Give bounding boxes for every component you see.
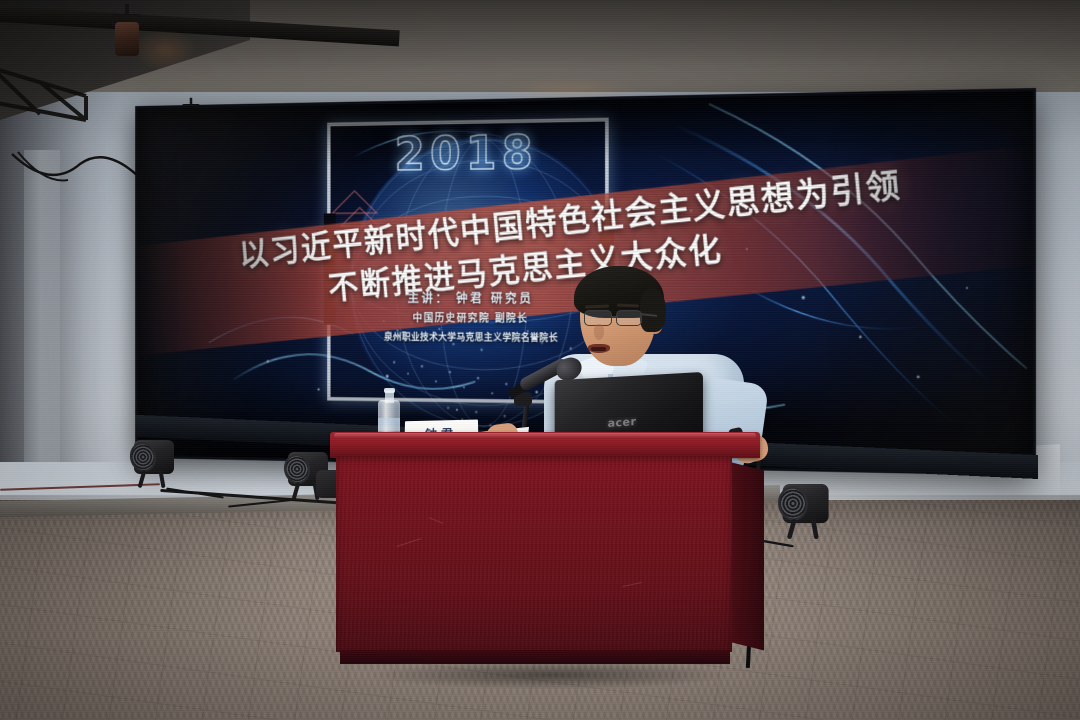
desk-top-highlight bbox=[334, 433, 756, 438]
ceiling-spot-light-1 bbox=[112, 14, 142, 56]
wall-shadow-left bbox=[0, 70, 120, 490]
hair-side bbox=[640, 288, 666, 332]
glasses-bridge bbox=[611, 316, 618, 318]
mouth-inner bbox=[591, 347, 606, 351]
speaker-desk bbox=[330, 432, 760, 680]
photo-scene: 2018 以习近平新时代中国特色社会主义思想为引领 不断推进马克思主义大众化 主… bbox=[0, 0, 1080, 720]
hanging-cable bbox=[10, 150, 140, 210]
desk-floor-shadow bbox=[300, 655, 800, 695]
desk-front-panel bbox=[336, 456, 732, 652]
glasses-lens-right bbox=[616, 310, 642, 326]
bottle-label bbox=[378, 418, 400, 431]
desk-side-panel bbox=[730, 462, 764, 650]
nose bbox=[594, 324, 604, 340]
truss-frame-icon bbox=[0, 62, 110, 122]
